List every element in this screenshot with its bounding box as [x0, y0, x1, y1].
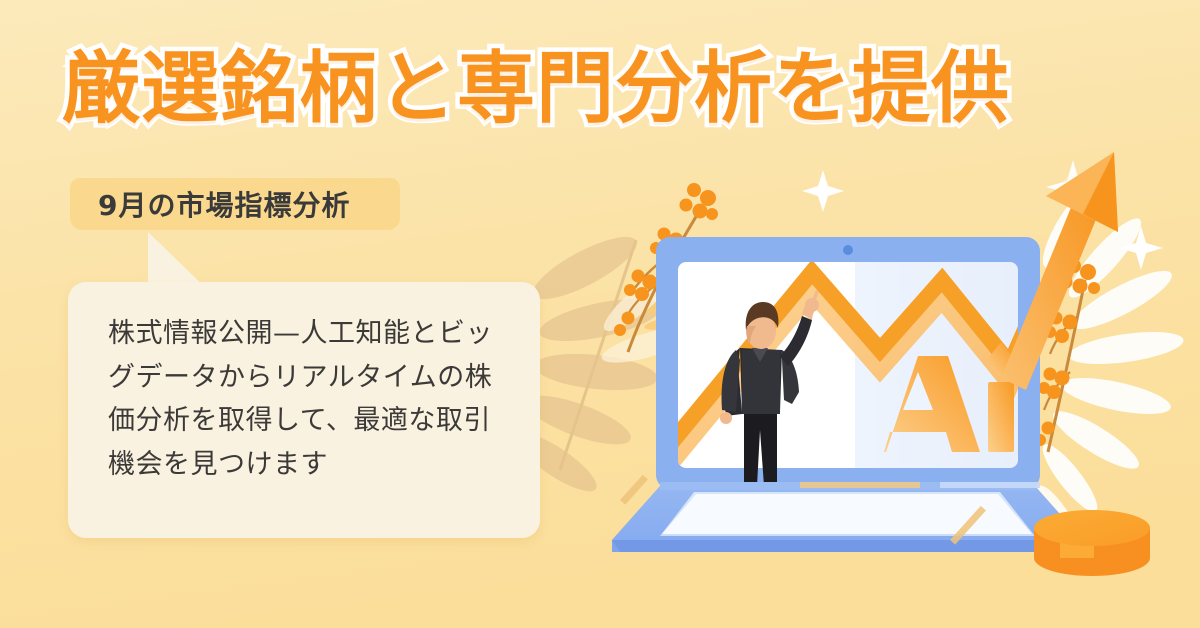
- ai-logo-i-stem: [988, 382, 1014, 452]
- status-badge-label: 9月の市場指標分析: [98, 184, 350, 224]
- speech-bubble: 株式情報公開—人工知能とビッグデータからリアルタイムの株価分析を取得して、最適な…: [68, 232, 546, 544]
- laptop-webcam-icon: [843, 245, 853, 255]
- gold-coin: [1034, 510, 1150, 576]
- page-title: 厳選銘柄と専門分析を提供: [62, 48, 1010, 131]
- status-badge: 9月の市場指標分析: [70, 178, 400, 230]
- banner-canvas: 厳選銘柄と専門分析を提供 9月の市場指標分析 株式情報公開—人工知能とビッグデー…: [0, 0, 1200, 628]
- speech-bubble-tail: [148, 232, 206, 288]
- figure-hand: [805, 298, 819, 312]
- speech-bubble-body: 株式情報公開—人工知能とビッグデータからリアルタイムの株価分析を取得して、最適な…: [68, 282, 540, 538]
- speech-bubble-text: 株式情報公開—人工知能とビッグデータからリアルタイムの株価分析を取得して、最適な…: [108, 312, 506, 487]
